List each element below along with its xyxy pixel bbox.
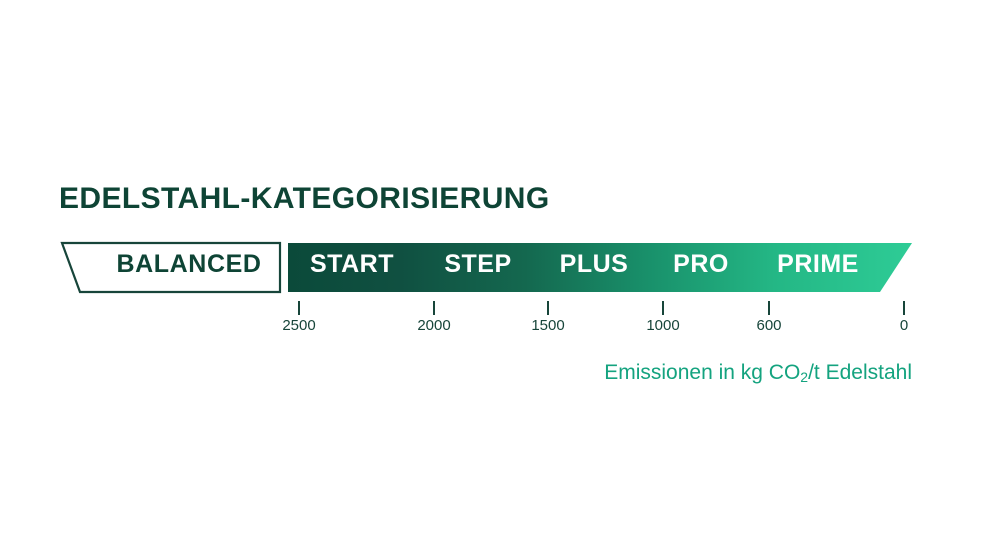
axis-caption-prefix: Emissionen in kg CO xyxy=(604,361,800,384)
segment-label-step: STEP xyxy=(444,252,511,277)
axis-ticks xyxy=(299,301,904,315)
axis-caption: Emissionen in kg CO2/t Edelstahl xyxy=(604,362,912,383)
tick-label-0: 0 xyxy=(900,318,908,333)
tick-label-600: 600 xyxy=(756,318,781,333)
segment-label-plus: PLUS xyxy=(560,252,629,277)
tick-label-2500: 2500 xyxy=(282,318,315,333)
segment-label-pro: PRO xyxy=(673,252,729,277)
segment-label-start: START xyxy=(310,252,394,277)
tick-label-2000: 2000 xyxy=(417,318,450,333)
balanced-tag-label: BALANCED xyxy=(103,252,275,277)
tick-label-1000: 1000 xyxy=(646,318,679,333)
tick-label-1500: 1500 xyxy=(531,318,564,333)
categorisation-scale: BALANCED START STEP PLUS PRO PRIME 2500 … xyxy=(0,0,984,554)
segment-label-prime: PRIME xyxy=(777,252,859,277)
axis-caption-subscript: 2 xyxy=(800,369,808,385)
edelstahl-kategorisierung-infographic: EDELSTAHL-KATEGORISIERUNG xyxy=(0,0,984,554)
axis-caption-suffix: /t Edelstahl xyxy=(808,361,912,384)
